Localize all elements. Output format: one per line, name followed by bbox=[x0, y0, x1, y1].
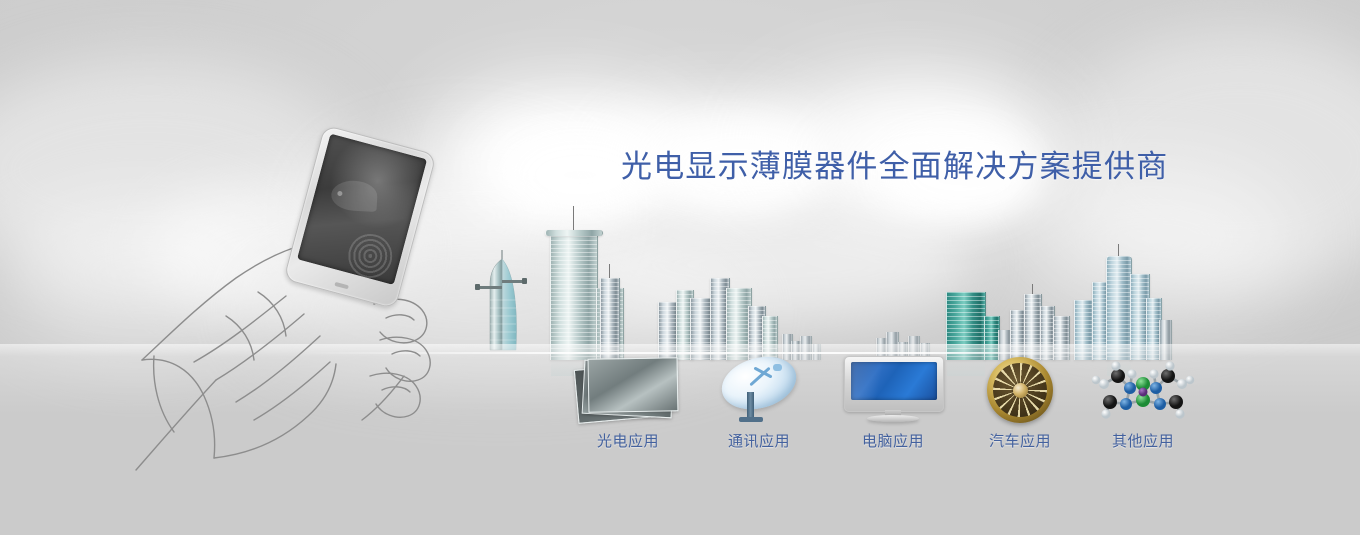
skyscraper bbox=[600, 278, 620, 360]
application-icons-row: 光电应用 通讯应用 bbox=[0, 352, 1360, 472]
skyscraper bbox=[545, 230, 603, 236]
skyscraper bbox=[1074, 300, 1094, 360]
promo-banner: 光电显示薄膜器件全面解决方案提供商 光电应用 bbox=[0, 0, 1360, 535]
page-title: 光电显示薄膜器件全面解决方案提供商 bbox=[621, 141, 1168, 186]
molecule-icon bbox=[1068, 352, 1218, 424]
application-label: 光电应用 bbox=[553, 430, 703, 451]
glass-panels-icon bbox=[553, 352, 703, 424]
satellite-dish-icon bbox=[684, 352, 834, 424]
skyscraper bbox=[1106, 256, 1132, 360]
skyscraper bbox=[946, 292, 986, 360]
application-label: 通讯应用 bbox=[684, 430, 834, 451]
application-item-other[interactable]: 其他应用 bbox=[1068, 352, 1218, 451]
application-item-communication[interactable]: 通讯应用 bbox=[684, 352, 834, 451]
skyscraper bbox=[550, 232, 598, 360]
screen-blob bbox=[331, 180, 379, 212]
application-label: 其他应用 bbox=[1068, 430, 1218, 451]
application-item-optoelectronic[interactable]: 光电应用 bbox=[553, 352, 703, 451]
